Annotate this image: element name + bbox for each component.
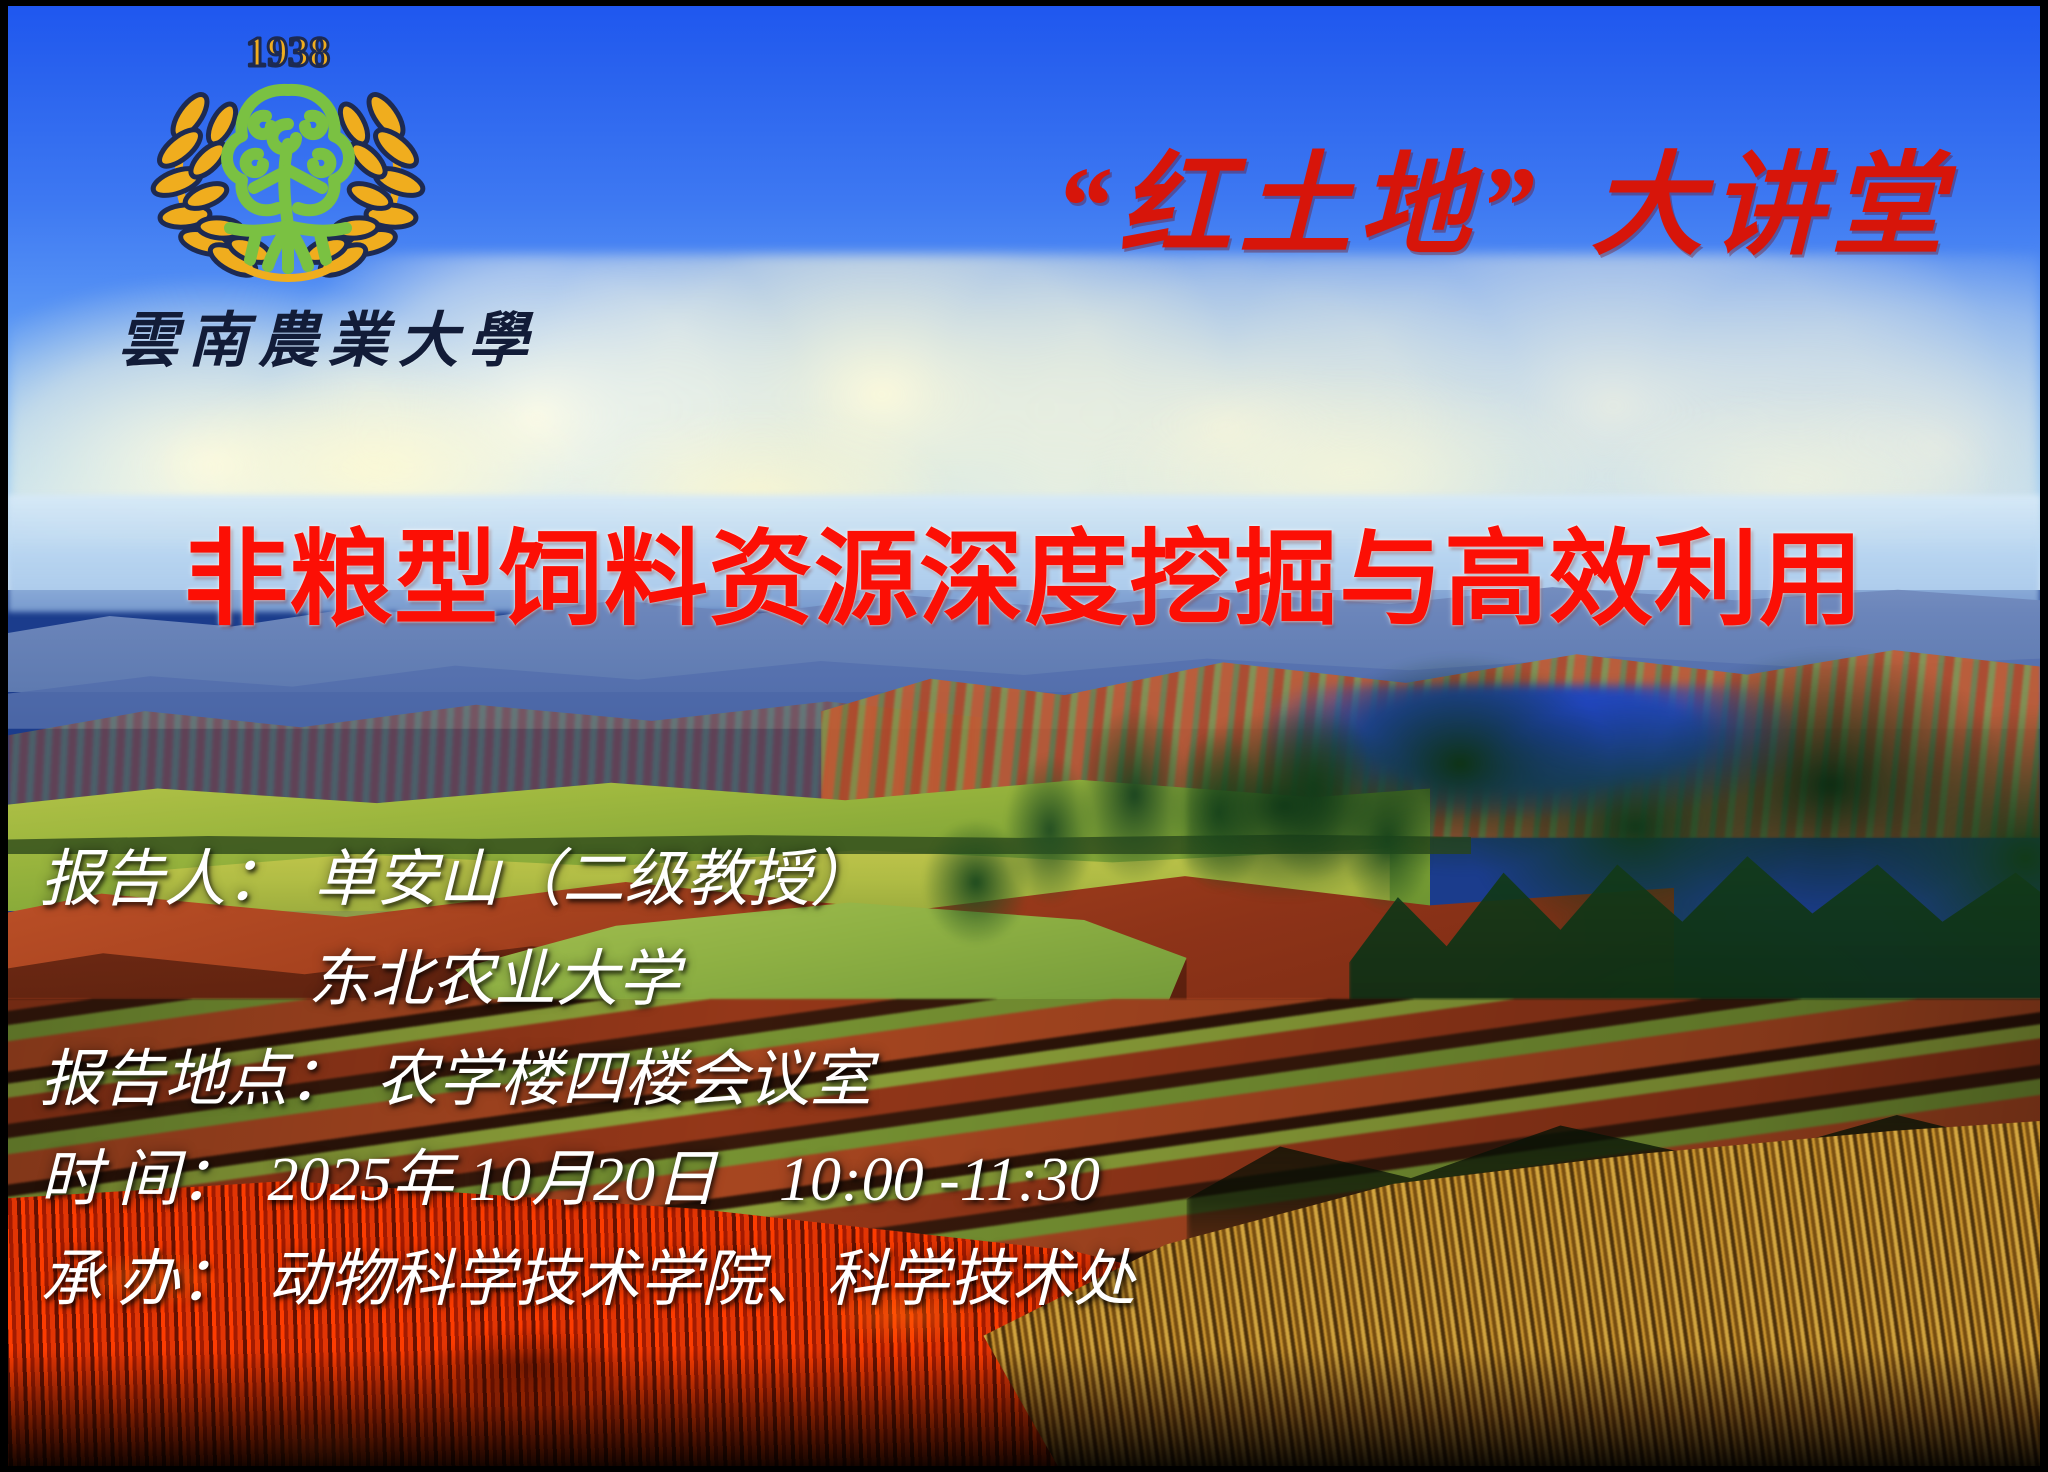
university-emblem-icon: 1938 bbox=[138, 20, 438, 290]
detail-venue-value: 农学楼四楼会议室 bbox=[376, 1046, 872, 1114]
detail-time: 时 间：2025年 10月20日 10:00 -11:30 bbox=[40, 1130, 1640, 1230]
content-layer: 1938 bbox=[0, 0, 2048, 1472]
detail-time-value: 2025年 10月20日 10:00 -11:30 bbox=[268, 1146, 1100, 1214]
detail-speaker-value: 单安山（二级教授） bbox=[314, 846, 872, 914]
detail-venue-label: 报告地点： bbox=[40, 1046, 350, 1114]
university-name: 雲南農業大學 bbox=[118, 292, 498, 379]
series-title-quoted: “红土地” bbox=[1055, 145, 1543, 269]
detail-speaker: 报告人：单安山（二级教授） bbox=[40, 830, 1640, 930]
detail-speaker-label: 报告人： bbox=[40, 846, 288, 914]
lecture-series-title: “红土地”大讲堂 bbox=[1055, 115, 1951, 277]
detail-time-label: 时 间： bbox=[40, 1146, 242, 1214]
series-title-rest: 大讲堂 bbox=[1591, 145, 1951, 269]
detail-organizer-label: 承 办： bbox=[40, 1246, 242, 1314]
detail-affiliation-value: 东北农业大学 bbox=[308, 946, 680, 1014]
svg-text:1938: 1938 bbox=[246, 30, 330, 76]
lecture-details: 报告人：单安山（二级教授） 东北农业大学 报告地点：农学楼四楼会议室 时 间：2… bbox=[40, 830, 1640, 1330]
poster-root: 1938 bbox=[0, 0, 2048, 1472]
detail-affiliation: 东北农业大学 bbox=[40, 930, 1640, 1030]
detail-organizer-value: 动物科学技术学院、科学技术处 bbox=[268, 1246, 1136, 1314]
detail-organizer: 承 办：动物科学技术学院、科学技术处 bbox=[40, 1230, 1640, 1330]
lecture-title: 非粮型饲料资源深度挖掘与高效利用 bbox=[0, 494, 2048, 645]
detail-venue: 报告地点：农学楼四楼会议室 bbox=[40, 1030, 1640, 1130]
